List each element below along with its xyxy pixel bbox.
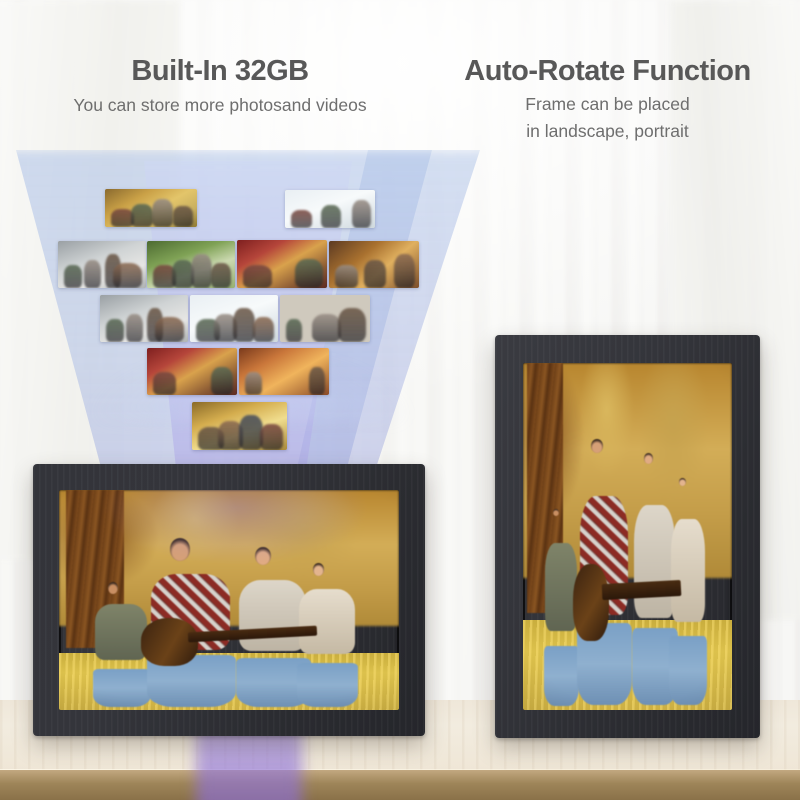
photo-thumbnail <box>100 295 188 342</box>
photo-thumbnail-figures <box>147 348 237 395</box>
scene-vignette <box>59 490 399 710</box>
photo-thumbnail <box>147 348 237 395</box>
photo-thumbnail-figures <box>239 348 329 395</box>
photo-family-with-guitar <box>59 490 399 710</box>
photo-thumbnail-figures <box>280 295 370 342</box>
photo-thumbnail-figures <box>147 241 235 288</box>
photo-thumbnail <box>190 295 278 342</box>
photo-thumbnail-figures <box>192 402 287 450</box>
photo-family-with-guitar-portrait <box>523 363 732 710</box>
photo-thumbnail-figures <box>105 189 197 227</box>
photo-thumbnail <box>147 241 235 288</box>
photo-thumbnail-figures <box>100 295 188 342</box>
photo-thumbnail <box>237 240 327 288</box>
photo-thumbnail-figures <box>190 295 278 342</box>
photo-thumbnail <box>285 190 375 228</box>
product-marketing-image: Built-In 32GB You can store more photosa… <box>0 0 800 800</box>
photo-thumbnail-figures <box>237 240 327 288</box>
photo-thumbnail <box>192 402 287 450</box>
scene-vignette <box>523 363 732 710</box>
landscape-frame[interactable] <box>33 464 425 736</box>
portrait-frame[interactable] <box>495 335 760 738</box>
photo-thumbnail <box>239 348 329 395</box>
photo-thumbnail-figures <box>285 190 375 228</box>
portrait-frame-screen <box>523 363 732 710</box>
photo-thumbnail-figures <box>58 241 146 288</box>
landscape-frame-screen <box>59 490 399 710</box>
photo-thumbnail <box>58 241 146 288</box>
photo-thumbnail <box>329 241 419 288</box>
photo-thumbnail-figures <box>329 241 419 288</box>
photo-thumbnail <box>105 189 197 227</box>
table-edge <box>0 770 800 800</box>
photo-thumbnail <box>280 295 370 342</box>
